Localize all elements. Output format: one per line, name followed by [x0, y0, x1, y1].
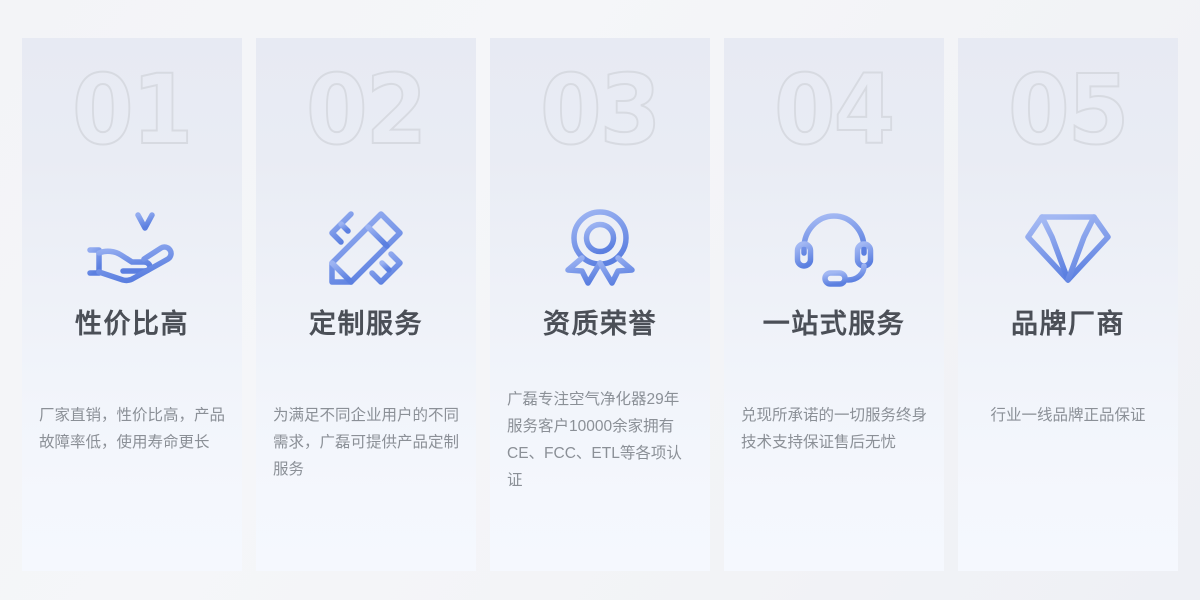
feature-card[interactable]: 03 资质荣誉 广磊专注空气净化器29年服务客户10000余家拥有CE、FCC、	[490, 38, 710, 571]
card-number: 03	[540, 62, 659, 158]
card-number: 01	[72, 62, 191, 158]
card-description: 行业一线品牌正品保证	[975, 402, 1161, 429]
card-title: 品牌厂商	[1011, 308, 1125, 340]
award-medal-icon	[548, 210, 652, 286]
features-strip: 01 性价比高	[0, 0, 1200, 600]
card-description: 为满足不同企业用户的不同需求，广磊可提供产品定制服务	[273, 402, 459, 483]
hand-holding-yuan-icon	[80, 210, 184, 286]
card-description: 兑现所承诺的一切服务终身技术支持保证售后无忧	[741, 402, 927, 456]
feature-card[interactable]: 02	[256, 38, 476, 571]
feature-card[interactable]: 04 一站式服务 兑现所承诺的一切服务终身技术支持保证售后	[724, 38, 944, 571]
card-number: 02	[306, 62, 425, 158]
pencil-ruler-icon	[314, 210, 418, 286]
card-title: 资质荣誉	[543, 308, 657, 340]
card-title: 一站式服务	[763, 308, 906, 340]
feature-card[interactable]: 01 性价比高	[22, 38, 242, 571]
headset-support-icon	[782, 210, 886, 286]
feature-card[interactable]: 05 品牌厂商 行业一线品牌正品保证	[958, 38, 1178, 571]
card-number: 05	[1008, 62, 1127, 158]
card-description: 广磊专注空气净化器29年服务客户10000余家拥有CE、FCC、ETL等各项认证	[507, 386, 693, 494]
card-title: 定制服务	[309, 308, 423, 340]
card-number: 04	[774, 62, 893, 158]
diamond-icon	[1016, 210, 1120, 286]
card-title: 性价比高	[75, 308, 189, 340]
card-description: 厂家直销，性价比高，产品故障率低，使用寿命更长	[39, 402, 225, 456]
